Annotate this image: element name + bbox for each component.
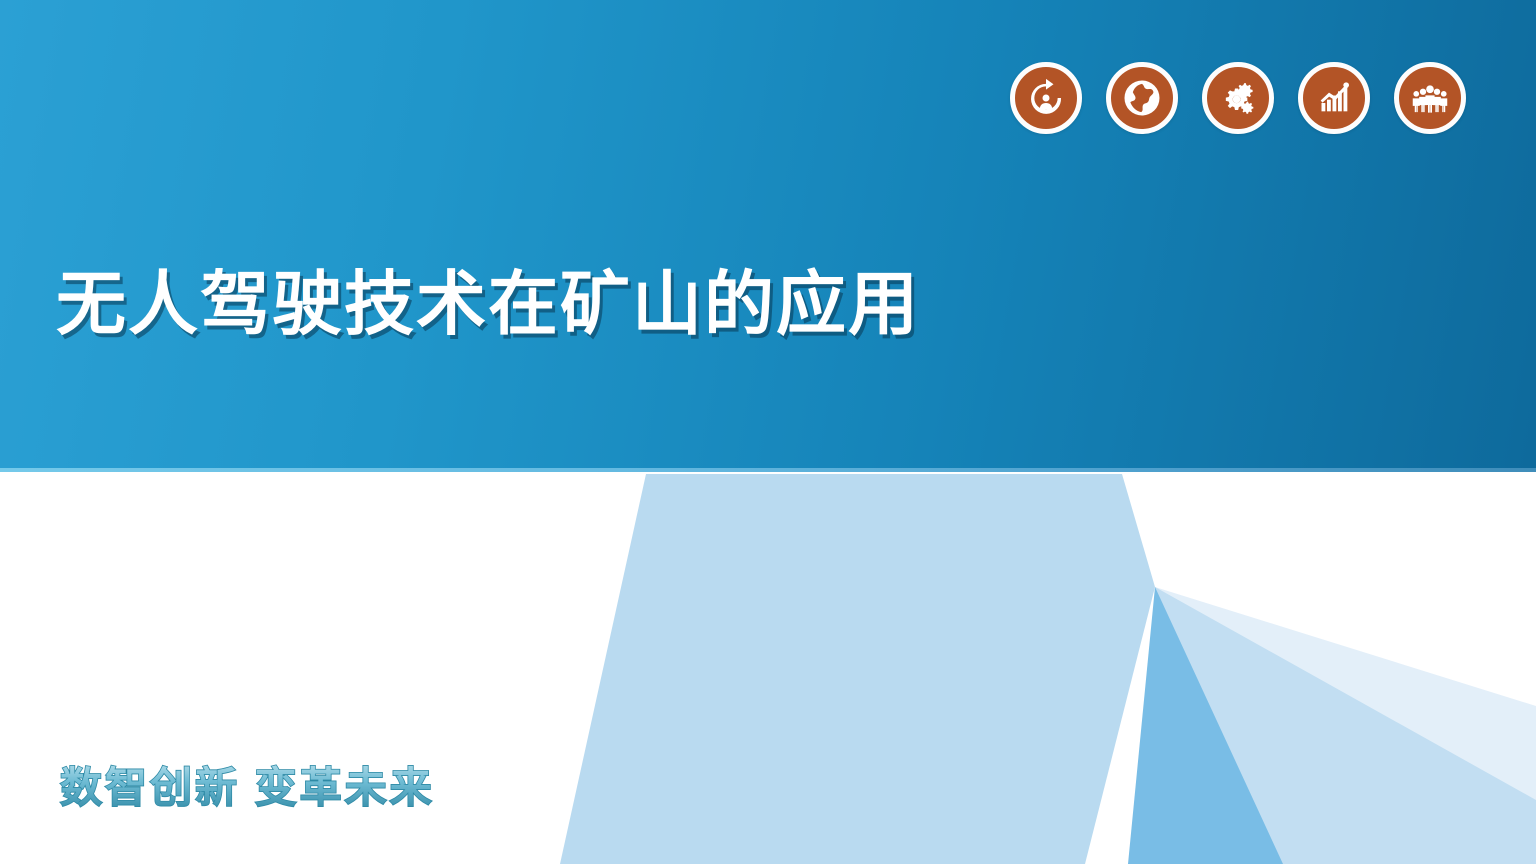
cycle-person-icon (1010, 62, 1082, 134)
presentation-slide: 无人驾驶技术在矿山的应用 数智创新 变革未来 数智创新 变革未来 (0, 0, 1536, 864)
main-parallelogram (560, 474, 1155, 864)
slide-subtitle: 数智创新 变革未来 (60, 754, 435, 815)
people-group-glyph (1410, 78, 1450, 118)
bar-chart-growth-glyph (1314, 78, 1354, 118)
cycle-person-glyph (1026, 78, 1066, 118)
slide-title: 无人驾驶技术在矿山的应用 (56, 268, 920, 342)
icon-row (1010, 62, 1466, 134)
globe-glyph (1122, 78, 1162, 118)
people-group-icon (1394, 62, 1466, 134)
gears-glyph (1218, 78, 1258, 118)
gears-icon (1202, 62, 1274, 134)
globe-icon (1106, 62, 1178, 134)
bar-chart-growth-icon (1298, 62, 1370, 134)
